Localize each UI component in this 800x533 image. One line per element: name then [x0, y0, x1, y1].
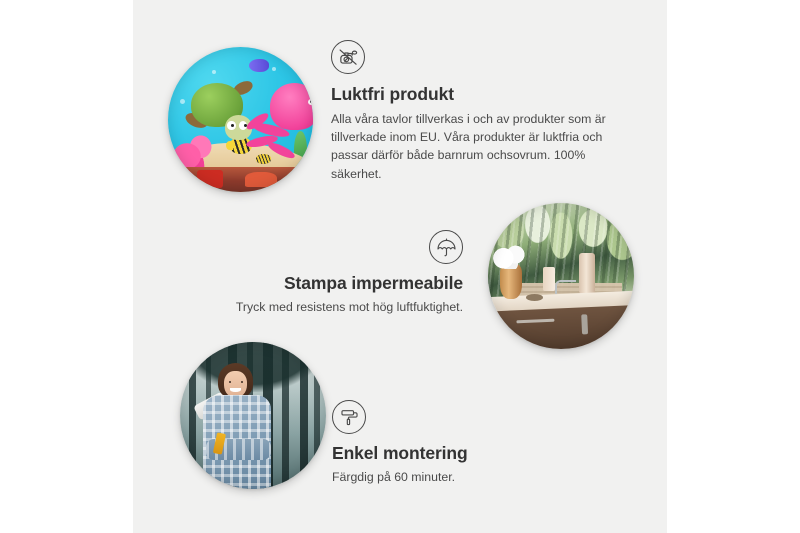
promo-graphic: Luktfri produkt Alla våra tavlor tillver…	[0, 0, 800, 533]
feature-odourless: Luktfri produkt Alla våra tavlor tillver…	[331, 40, 637, 183]
photo-underwater-kids-mural	[168, 47, 313, 192]
feature-easy-mounting: Enkel montering Färgdig på 60 minuter.	[332, 400, 622, 486]
feature-description: Färgdig på 60 minuter.	[332, 468, 622, 486]
no-perfume-spray-icon	[331, 40, 365, 74]
photo-vignette	[488, 203, 634, 349]
feature-waterproof: Stampa impermeabile Tryck med resistens …	[216, 230, 463, 316]
photo-bathroom-tropical-wallpaper	[488, 203, 634, 349]
feature-description: Alla våra tavlor tillverkas i och av pro…	[331, 110, 637, 183]
photo-woman-with-paint-roller	[180, 342, 326, 489]
umbrella-icon	[429, 230, 463, 264]
feature-title: Luktfri produkt	[331, 84, 637, 105]
feature-title: Stampa impermeabile	[216, 273, 463, 294]
photo-vignette	[168, 47, 313, 192]
feature-description: Tryck med resistens mot hög luftfuktighe…	[216, 298, 463, 316]
icon-wrapper	[216, 230, 463, 264]
feature-title: Enkel montering	[332, 443, 622, 464]
paint-roller-icon	[332, 400, 366, 434]
photo-vignette	[180, 342, 326, 489]
